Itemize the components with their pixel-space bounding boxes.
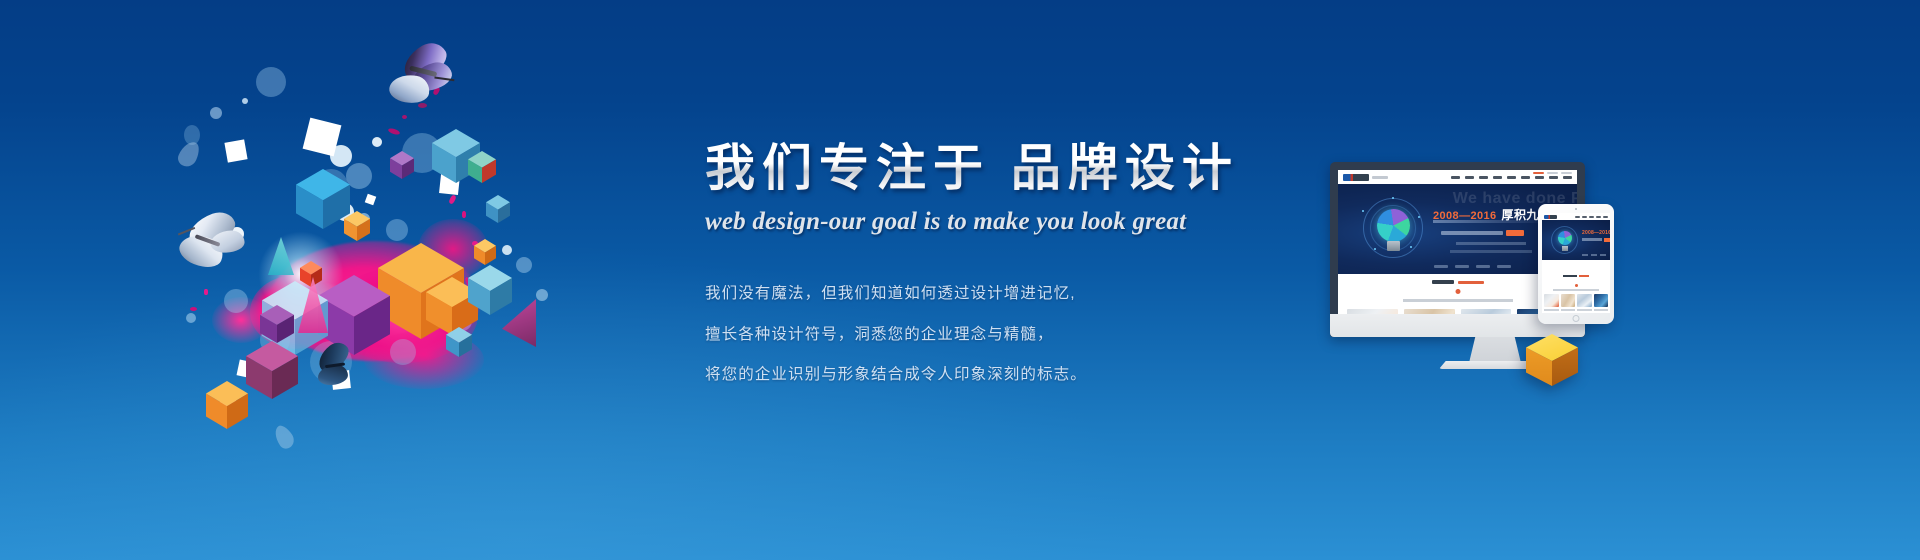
cube-purple-midleft (260, 305, 294, 343)
body-copy: 我们没有魔法，但我们知道如何透过设计增进记忆, 擅长各种设计符号，洞悉您的企业理… (705, 286, 1265, 383)
section-description (1403, 299, 1513, 302)
bulb-base (1562, 246, 1568, 251)
site-hero-meta (1456, 242, 1526, 245)
mobile-hero: 2008—2016厚积九年 (1542, 220, 1610, 260)
page-title: 我们专注于 品牌设计 (705, 140, 1265, 196)
site-nav-item (1507, 176, 1516, 179)
site-logo-tagline (1372, 176, 1388, 179)
mobile-hero-pagination[interactable] (1582, 254, 1606, 256)
mobile-section-heading (1542, 264, 1610, 291)
body-line-3: 将您的企业识别与形象结合成令人印象深刻的标志。 (705, 367, 1265, 383)
bokeh-circle (502, 245, 512, 255)
tablet-mockup: 2008—2016厚积九年 (1538, 204, 1614, 324)
cube-magenta-bottom (246, 341, 298, 399)
site-nav-item (1563, 176, 1572, 179)
network-node (1418, 216, 1420, 218)
cube-blue-upper (296, 169, 350, 229)
mobile-card-image (1561, 294, 1576, 307)
mobile-nav-item (1575, 216, 1580, 218)
mobile-lightbulb-graphic (1551, 226, 1578, 254)
body-line-2: 擅长各种设计符号，洞悉您的企业理念与精髓， (705, 327, 1265, 343)
hero-desc-bar (1441, 231, 1503, 235)
mobile-card-line (1594, 313, 1603, 314)
splatter-speck (388, 127, 401, 135)
site-nav-item (1465, 176, 1474, 179)
mobile-nav-item (1589, 216, 1594, 218)
site-hero-meta (1450, 250, 1532, 253)
butterfly-left (167, 209, 257, 283)
site-nav-item (1451, 176, 1460, 179)
butterfly-upper-right (378, 42, 466, 113)
network-node (1374, 248, 1376, 250)
mobile-navbar (1542, 213, 1610, 220)
mobile-card-image (1594, 294, 1609, 307)
bokeh-circle (386, 219, 408, 241)
mobile-card[interactable] (1561, 294, 1576, 313)
network-node (1362, 210, 1364, 212)
mobile-card-image (1577, 294, 1592, 307)
orange-3d-cube (1526, 334, 1578, 386)
splatter-speck (402, 115, 407, 119)
tablet-screen: 2008—2016厚积九年 (1542, 213, 1610, 313)
mobile-hero-desc (1582, 238, 1602, 241)
mobile-thumbnail-grid (1542, 291, 1610, 313)
site-hero-subline (1433, 220, 1548, 223)
mobile-hero-years-text: 2008—2016 (1582, 230, 1610, 236)
site-hero-cta-row (1441, 230, 1524, 236)
splatter-speck (204, 289, 208, 295)
pagination-dot[interactable] (1455, 265, 1469, 268)
petal-shape (175, 138, 202, 169)
pagination-dot[interactable] (1600, 254, 1606, 256)
bokeh-circle (256, 67, 286, 97)
mobile-card-line (1577, 309, 1592, 311)
mobile-nav-item (1603, 216, 1608, 218)
bokeh-circle (186, 313, 196, 323)
site-utility-nav (1533, 172, 1572, 174)
network-node (1410, 246, 1412, 248)
pagination-dot[interactable] (1497, 265, 1511, 268)
network-node (1392, 197, 1394, 199)
mobile-card-line (1561, 313, 1570, 314)
site-nav-item (1479, 176, 1488, 179)
mobile-nav-item (1582, 216, 1587, 218)
site-nav-item (1493, 176, 1502, 179)
site-nav-item (1535, 176, 1544, 179)
mobile-nav (1575, 216, 1608, 218)
bokeh-circle (516, 257, 532, 273)
splatter-speck (190, 307, 197, 311)
site-utility-link (1561, 172, 1572, 174)
hero-copy: 我们专注于 品牌设计 web design-our goal is to mak… (705, 140, 1265, 408)
mobile-hero-cta[interactable] (1604, 238, 1610, 242)
section-accent-dot (1455, 289, 1460, 294)
section-heading-main (1432, 280, 1454, 284)
mobile-card[interactable] (1594, 294, 1609, 313)
bulb-base (1387, 241, 1400, 251)
site-navbar (1338, 170, 1577, 184)
pagination-dot[interactable] (1582, 254, 1588, 256)
mobile-card-image (1544, 294, 1559, 307)
cube-purple-small (390, 151, 414, 179)
site-utility-link (1533, 172, 1544, 174)
site-main-nav (1451, 176, 1572, 179)
bokeh-circle (390, 339, 416, 365)
bokeh-circle (536, 289, 548, 301)
mobile-card-line (1544, 313, 1553, 314)
hero-banner: 我们专注于 品牌设计 web design-our goal is to mak… (0, 0, 1920, 560)
monitor-stand-neck (1469, 337, 1521, 363)
bulb-glass (1377, 209, 1410, 242)
hero-cta-button[interactable] (1506, 230, 1524, 236)
cube-teal-edge (486, 195, 510, 223)
mobile-heading-main (1563, 275, 1577, 278)
mobile-card-line (1577, 313, 1586, 314)
mobile-nav-item (1596, 216, 1601, 218)
bokeh-circle (210, 107, 222, 119)
site-utility-link (1547, 172, 1558, 174)
site-nav-item (1549, 176, 1558, 179)
mobile-card-line (1594, 309, 1609, 311)
site-hero-pagination[interactable] (1434, 265, 1511, 268)
section-heading-sub (1458, 281, 1484, 284)
abstract-artwork (150, 45, 610, 465)
mobile-card[interactable] (1577, 294, 1592, 313)
pagination-dot[interactable] (1476, 265, 1490, 268)
splatter-speck (448, 194, 457, 204)
tablet-camera (1575, 208, 1577, 210)
white-square (365, 194, 377, 206)
body-line-1: 我们没有魔法，但我们知道如何透过设计增进记忆, (705, 286, 1265, 302)
cube-orange-far (474, 239, 496, 265)
page-subtitle: web design-our goal is to make you look … (705, 208, 1265, 236)
mobile-heading-sub (1579, 275, 1589, 277)
device-mockups: We have done PC & mobile Since 2008 (1330, 162, 1660, 392)
cube-orange-bottom (206, 381, 248, 429)
site-logo (1343, 174, 1369, 181)
lightbulb-graphic (1360, 196, 1426, 268)
section-heading (1432, 280, 1484, 284)
cube-green-small (468, 151, 496, 183)
pagination-dot[interactable] (1434, 265, 1448, 268)
pagination-dot[interactable] (1591, 254, 1597, 256)
mobile-hero-years: 2008—2016厚积九年 (1582, 229, 1610, 236)
white-square (224, 139, 247, 162)
mobile-card-line (1561, 309, 1576, 311)
mobile-site-logo (1544, 215, 1557, 219)
cube-red-small (300, 261, 322, 287)
section-accent-dot (1575, 284, 1578, 287)
bulb-glass (1558, 231, 1572, 245)
cube-teal-bottomright (446, 327, 472, 357)
tablet-home-button[interactable] (1573, 315, 1580, 322)
site-nav-item (1521, 176, 1530, 179)
cube-orange-centre (344, 211, 370, 241)
bokeh-circle (372, 137, 382, 147)
splatter-speck (462, 211, 466, 218)
cube-cyan-far (468, 265, 512, 315)
mobile-card-line (1544, 309, 1559, 311)
petal-shape (271, 423, 298, 452)
bokeh-circle (224, 289, 248, 313)
mobile-card[interactable] (1544, 294, 1559, 313)
bokeh-circle (242, 98, 248, 104)
